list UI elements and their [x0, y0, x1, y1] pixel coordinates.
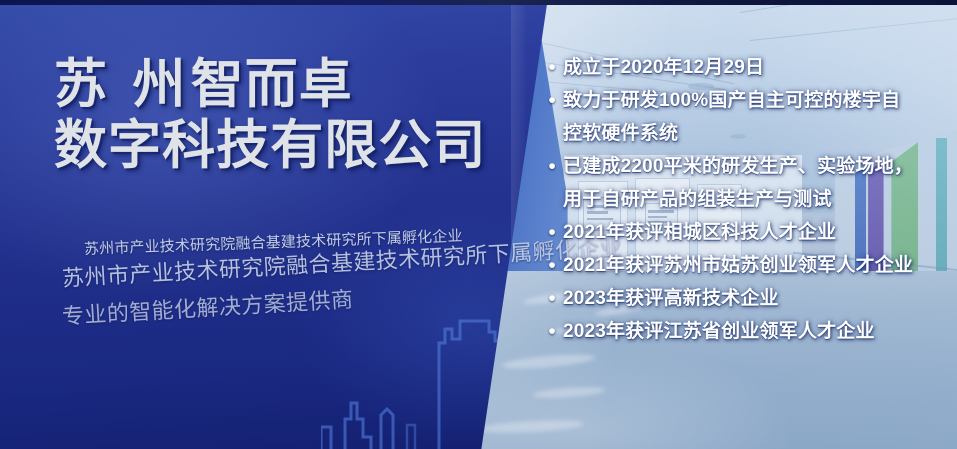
presentation-slide: 苏 州智而卓 数字科技有限公司 苏州市产业技术研究院融合基建技术研究所下属孵化企… — [0, 0, 957, 449]
bullet-dot-icon: • — [541, 316, 563, 347]
company-name-line-2: 数字科技有限公司 — [54, 117, 524, 174]
company-subtitle-group: 苏州市产业技术研究院融合基建技术研究所下属孵化企业 苏州市产业技术研究院融合基建… — [62, 238, 623, 331]
bullet-dot-icon: • — [541, 283, 563, 314]
highlight-item: •成立于2020年12月29日 — [541, 52, 957, 83]
highlight-item-text: 2023年获评高新技术企业 — [563, 283, 957, 314]
highlight-item-text: 致力于研发100%国产自主可控的楼宇自 — [563, 85, 957, 116]
highlight-item-text: 控软硬件系统 — [563, 118, 957, 149]
bullet-dot-icon: • — [541, 52, 563, 83]
highlight-item-text: 已建成2200平米的研发生产、实验场地， — [563, 151, 957, 182]
company-name-line-1-part-b: 智而卓 — [191, 55, 353, 114]
highlight-item-text: 成立于2020年12月29日 — [563, 52, 957, 83]
highlight-item: •2023年获评高新技术企业 — [541, 283, 957, 314]
bullet-dot-icon: • — [541, 85, 563, 116]
bullet-dot-icon: • — [541, 151, 563, 182]
highlight-item-text: 2021年获评苏州市姑苏创业领军人才企业 — [563, 250, 957, 281]
company-highlights-list: •成立于2020年12月29日•致力于研发100%国产自主可控的楼宇自•控软硬件… — [541, 52, 957, 349]
bullet-dot-icon: • — [541, 217, 563, 248]
bullet-dot-icon: • — [541, 250, 563, 281]
company-logo-block: 苏 州智而卓 数字科技有限公司 — [54, 56, 524, 174]
highlight-item: •用于自研产品的组装生产与测试 — [541, 184, 957, 215]
highlight-item-text: 2021年获评相城区科技人才企业 — [563, 217, 957, 248]
highlight-item-text: 用于自研产品的组装生产与测试 — [563, 184, 957, 215]
highlight-item: •已建成2200平米的研发生产、实验场地， — [541, 151, 957, 182]
highlight-item: •2021年获评相城区科技人才企业 — [541, 217, 957, 248]
highlight-item-text: 2023年获评江苏省创业领军人才企业 — [563, 316, 957, 347]
top-edge-band — [0, 0, 957, 5]
highlight-item: •致力于研发100%国产自主可控的楼宇自 — [541, 85, 957, 116]
company-name-line-1-part-a: 苏 州 — [54, 55, 191, 114]
highlight-item: •2021年获评苏州市姑苏创业领军人才企业 — [541, 250, 957, 281]
highlight-item: •2023年获评江苏省创业领军人才企业 — [541, 316, 957, 347]
company-name-line-1: 苏 州智而卓 — [54, 56, 524, 113]
highlight-item: •控软硬件系统 — [541, 118, 957, 149]
